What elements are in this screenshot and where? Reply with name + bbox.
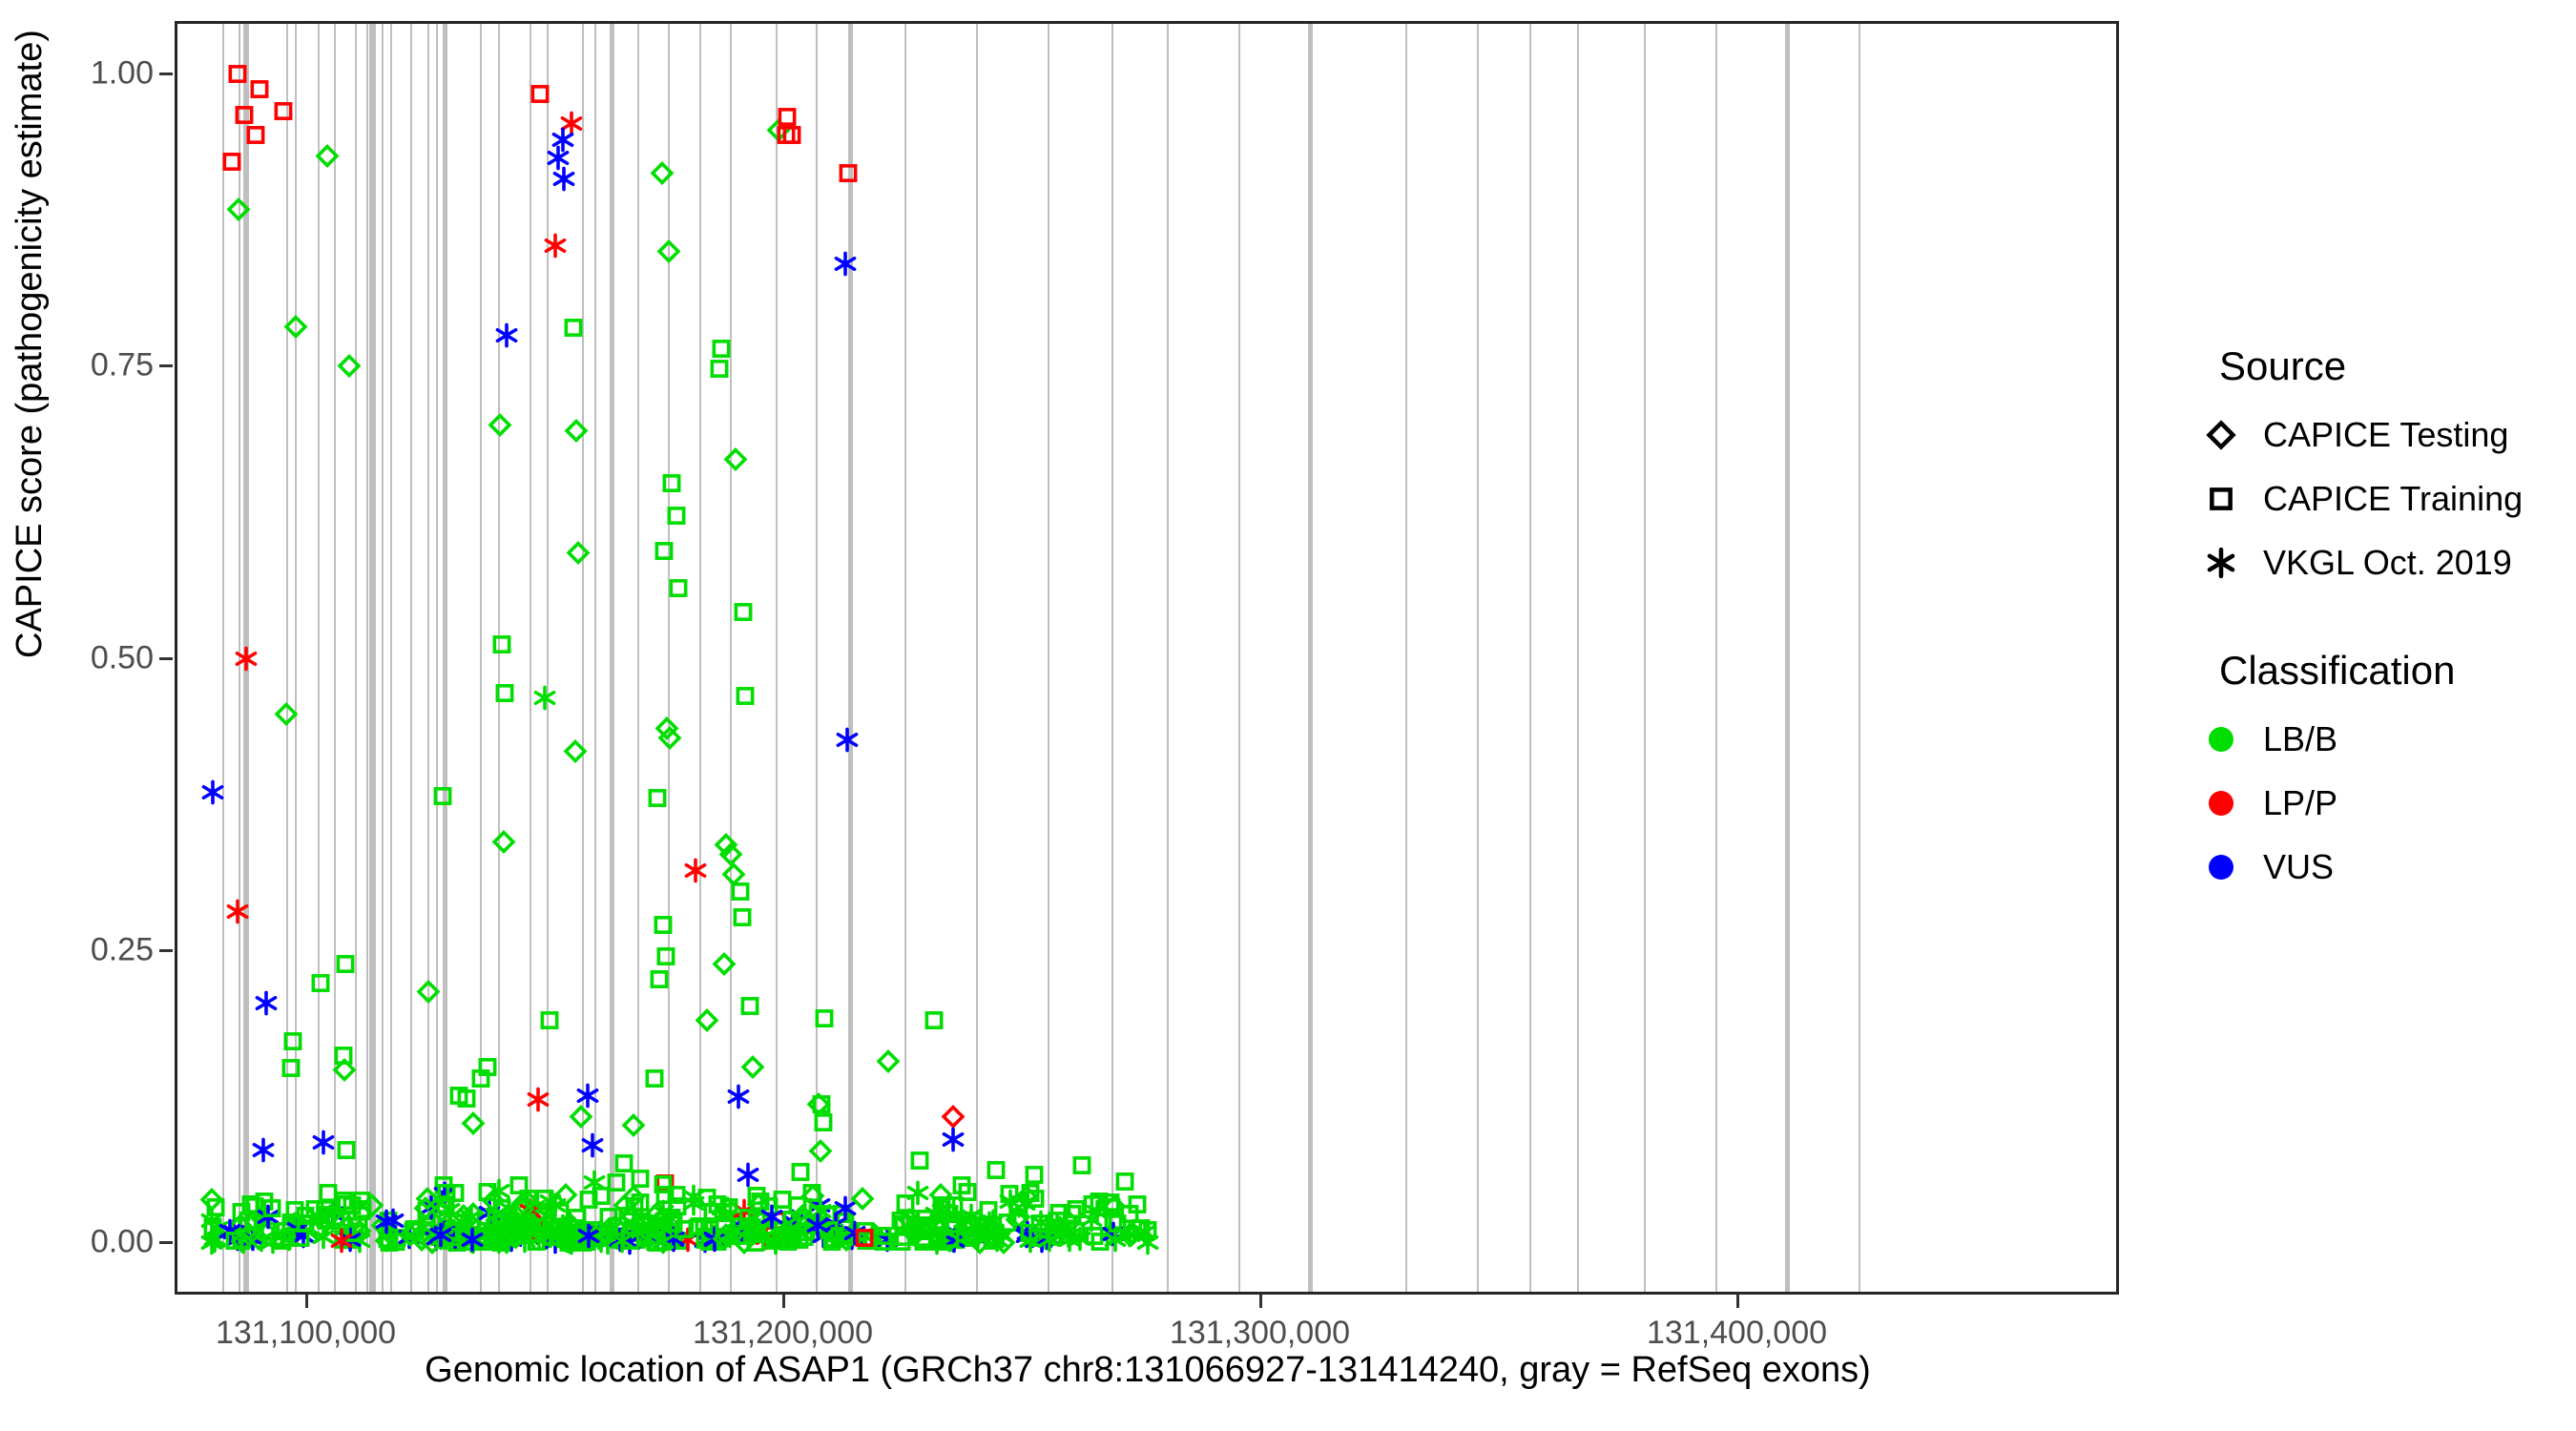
asterisk-marker	[255, 1204, 280, 1230]
diamond-marker	[246, 1226, 272, 1252]
data-point	[1088, 1229, 1113, 1259]
legend-item[interactable]: CAPICE Testing	[2194, 403, 2566, 467]
square-marker	[278, 1055, 303, 1081]
square-marker	[787, 1212, 813, 1237]
square-marker	[870, 1229, 896, 1255]
data-point	[249, 1227, 275, 1257]
asterisk-marker	[1134, 1230, 1160, 1255]
asterisk-marker	[198, 1230, 224, 1255]
asterisk-marker	[807, 1192, 833, 1218]
square-marker	[1041, 1217, 1067, 1243]
asterisk-marker	[660, 1226, 686, 1252]
diamond-marker	[739, 1054, 765, 1080]
data-point	[660, 1226, 686, 1256]
square-marker	[692, 1227, 717, 1253]
asterisk-marker	[1029, 1228, 1055, 1254]
x-tick-mark	[1736, 1295, 1739, 1308]
asterisk-marker	[660, 1227, 686, 1253]
square-marker	[473, 1223, 499, 1249]
square-marker	[1088, 1229, 1113, 1255]
data-point	[603, 1170, 629, 1200]
square-marker	[260, 1195, 285, 1221]
diamond-marker	[617, 1203, 643, 1229]
square-marker	[769, 1216, 795, 1242]
data-point	[740, 1214, 766, 1245]
legend-item[interactable]: VUS	[2194, 835, 2566, 899]
y-tick-label: 0.00	[39, 1223, 154, 1260]
data-point	[1105, 1211, 1131, 1241]
asterisk-marker	[620, 1211, 646, 1236]
data-point	[833, 1209, 859, 1239]
data-point	[631, 1224, 656, 1255]
asterisk-marker	[940, 1127, 966, 1152]
asterisk-marker	[409, 1214, 435, 1240]
data-point	[712, 1212, 737, 1242]
exon-line	[295, 24, 297, 1292]
data-point	[563, 418, 589, 448]
square-marker	[254, 1218, 280, 1244]
square-marker	[1124, 1192, 1150, 1217]
legend-item[interactable]: LP/P	[2194, 771, 2566, 835]
data-point	[447, 1083, 472, 1113]
square-marker	[340, 1227, 365, 1253]
data-point	[704, 1229, 730, 1259]
data-point	[750, 1208, 776, 1238]
square-marker	[487, 1227, 512, 1253]
asterisk-marker	[701, 1224, 727, 1250]
data-point	[530, 1214, 555, 1245]
asterisk-marker	[556, 1229, 582, 1255]
asterisk-marker	[1079, 1207, 1105, 1233]
data-point	[622, 1193, 648, 1224]
data-point	[657, 1216, 683, 1247]
asterisk-marker	[650, 1215, 675, 1241]
square-marker	[961, 1208, 987, 1234]
data-point	[1014, 1223, 1040, 1254]
data-point	[453, 1086, 479, 1116]
data-point	[1117, 1201, 1143, 1232]
square-marker	[743, 1183, 769, 1209]
data-point	[474, 1218, 500, 1249]
data-point	[620, 1218, 646, 1249]
data-point	[915, 1216, 941, 1247]
data-point	[461, 1201, 487, 1232]
square-marker	[628, 1166, 654, 1192]
data-point	[426, 1224, 452, 1255]
data-point	[480, 1188, 506, 1218]
exon-line	[498, 24, 500, 1292]
data-point	[934, 1192, 960, 1223]
asterisk-marker	[832, 1195, 858, 1221]
exon-line	[355, 24, 357, 1292]
data-point	[550, 1220, 575, 1251]
exon-line	[443, 24, 447, 1292]
data-point	[198, 1208, 224, 1238]
square-marker	[733, 683, 758, 709]
data-point	[834, 727, 860, 757]
data-point	[745, 1192, 771, 1222]
data-point	[575, 1223, 601, 1254]
diamond-marker	[613, 1192, 638, 1218]
square-marker	[704, 1192, 730, 1217]
square-marker	[744, 1218, 770, 1244]
data-point	[340, 1227, 365, 1257]
square-marker	[821, 1220, 847, 1246]
asterisk-marker	[498, 1227, 524, 1253]
asterisk-marker	[575, 1083, 601, 1109]
square-marker	[775, 1229, 800, 1255]
diamond-marker	[1057, 1210, 1083, 1235]
data-point	[927, 1217, 953, 1248]
asterisk-marker	[833, 251, 859, 277]
data-point	[1054, 1222, 1080, 1253]
data-point	[775, 1229, 800, 1259]
data-point	[730, 599, 756, 630]
data-point	[790, 1203, 816, 1234]
data-point	[1007, 1193, 1032, 1224]
asterisk-marker	[652, 1209, 677, 1234]
asterisk-marker	[740, 1214, 766, 1240]
data-point	[658, 1225, 684, 1255]
data-point	[657, 1225, 683, 1255]
square-marker	[456, 1229, 482, 1255]
diamond-marker	[427, 1226, 453, 1252]
data-point	[509, 1196, 535, 1227]
exon-line	[480, 24, 482, 1292]
exon-line	[530, 24, 531, 1292]
asterisk-marker	[643, 1212, 669, 1237]
square-marker	[652, 1229, 677, 1255]
data-point	[817, 1217, 842, 1248]
data-point	[1124, 1192, 1150, 1222]
data-point	[1028, 1210, 1054, 1240]
asterisk-marker	[657, 1225, 683, 1251]
data-point	[821, 1220, 847, 1251]
square-marker	[308, 970, 334, 996]
data-point	[238, 1192, 263, 1222]
square-marker	[531, 1203, 557, 1229]
asterisk-marker	[834, 727, 860, 753]
data-point	[1023, 1186, 1049, 1216]
exon-line	[668, 24, 670, 1292]
data-point	[937, 1228, 963, 1258]
square-marker	[756, 1193, 781, 1219]
data-point	[684, 1215, 710, 1246]
diamond-marker	[2205, 419, 2237, 451]
data-point	[850, 1186, 876, 1216]
y-tick-mark	[159, 364, 173, 367]
legend-spacer	[2194, 594, 2566, 648]
data-point	[1084, 1199, 1110, 1230]
square-marker	[286, 1215, 312, 1241]
data-point	[595, 1230, 621, 1260]
diamond-marker	[563, 418, 589, 444]
data-point	[551, 1215, 577, 1246]
diamond-marker	[645, 1200, 671, 1226]
square-marker	[909, 1225, 935, 1251]
data-point	[912, 1214, 938, 1245]
square-marker	[447, 1083, 472, 1109]
square-marker	[976, 1197, 1002, 1223]
data-point	[427, 1226, 453, 1256]
square-marker	[500, 1214, 526, 1240]
data-point	[500, 1214, 526, 1245]
data-point	[650, 1229, 675, 1259]
asterisk-marker	[904, 1180, 930, 1206]
x-tick-mark	[782, 1295, 785, 1308]
square-marker	[916, 1214, 942, 1240]
data-point	[448, 1218, 474, 1249]
square-marker	[658, 470, 684, 496]
y-tick-mark	[159, 657, 173, 660]
data-point	[278, 1055, 303, 1086]
data-point	[335, 1214, 361, 1245]
data-point	[270, 98, 296, 129]
square-marker	[769, 1187, 795, 1213]
data-point	[489, 632, 515, 662]
square-marker	[547, 1215, 572, 1241]
square-marker	[484, 1206, 509, 1232]
data-point	[584, 1223, 610, 1254]
square-marker	[653, 944, 678, 969]
data-point	[617, 1230, 643, 1260]
data-point	[402, 1216, 427, 1247]
diamond-marker	[966, 1230, 992, 1255]
asterisk-marker	[550, 1220, 575, 1246]
data-point	[310, 1130, 336, 1160]
square-marker	[514, 1210, 540, 1235]
data-point	[450, 1225, 476, 1255]
data-point	[702, 1226, 728, 1256]
square-marker	[704, 1229, 730, 1255]
data-point	[651, 1199, 676, 1230]
data-point	[328, 1208, 354, 1238]
square-marker	[630, 1213, 655, 1238]
data-point	[660, 1227, 686, 1257]
data-point	[401, 1218, 426, 1249]
data-point	[1021, 1225, 1047, 1255]
diamond-marker	[553, 1182, 579, 1208]
data-point	[556, 1211, 582, 1241]
data-point	[617, 1203, 643, 1234]
square-marker	[488, 1230, 513, 1255]
square-marker	[551, 1215, 577, 1241]
asterisk-marker	[924, 1201, 949, 1227]
y-tick-mark	[159, 73, 173, 75]
data-point	[409, 1221, 435, 1252]
data-point	[1017, 1220, 1043, 1251]
diamond-marker	[1005, 1207, 1030, 1233]
data-point	[700, 1228, 726, 1258]
data-point	[514, 1210, 540, 1240]
legend-item[interactable]: VKGL Oct. 2019	[2194, 530, 2566, 594]
diamond-marker	[584, 1223, 610, 1249]
asterisk-marker	[530, 1219, 555, 1245]
asterisk-marker	[249, 1210, 275, 1235]
square-marker	[912, 1206, 938, 1232]
exon-line	[816, 24, 818, 1292]
square-marker	[659, 1205, 685, 1231]
exon-line	[244, 24, 249, 1292]
data-point	[529, 1218, 554, 1249]
data-point	[269, 1228, 295, 1258]
square-marker	[730, 1221, 756, 1247]
diamond-marker	[940, 1104, 966, 1130]
data-point	[340, 1192, 365, 1223]
square-marker	[611, 1151, 636, 1176]
data-point	[805, 1091, 831, 1122]
exon-line	[594, 24, 596, 1292]
diamond-marker	[461, 1110, 487, 1136]
data-point	[643, 1212, 669, 1242]
square-marker	[906, 1148, 932, 1173]
square-marker	[853, 1228, 879, 1254]
square-marker	[482, 1220, 508, 1246]
data-point	[645, 1200, 671, 1231]
x-tick-mark	[305, 1295, 308, 1308]
square-marker	[1086, 1189, 1111, 1214]
diamond-marker	[654, 715, 679, 741]
data-point	[338, 1227, 364, 1257]
diamond-marker	[792, 1213, 818, 1239]
diamond-marker	[752, 1217, 778, 1243]
square-marker	[426, 1224, 452, 1250]
data-point	[819, 1229, 844, 1259]
exon-line	[1859, 24, 1860, 1292]
data-point	[522, 1194, 548, 1225]
square-marker	[957, 1213, 983, 1238]
asterisk-marker	[450, 1225, 476, 1251]
square-marker	[565, 1205, 591, 1231]
data-point	[941, 1192, 966, 1223]
legend-item[interactable]: LB/B	[2194, 707, 2566, 771]
diamond-marker	[602, 1213, 628, 1239]
asterisk-marker	[558, 111, 584, 136]
data-point	[449, 1219, 475, 1250]
data-point	[943, 1215, 968, 1246]
asterisk-marker	[675, 1227, 700, 1253]
data-point	[509, 1191, 535, 1221]
data-point	[437, 1220, 463, 1251]
data-point	[450, 1203, 476, 1234]
square-marker	[323, 1204, 349, 1230]
asterisk-marker	[1116, 1222, 1142, 1248]
asterisk-marker	[990, 1223, 1016, 1249]
legend-item[interactable]: CAPICE Training	[2194, 467, 2566, 530]
square-marker	[645, 1230, 671, 1255]
square-marker	[491, 1210, 517, 1235]
data-point	[645, 1230, 671, 1260]
asterisk-marker	[1028, 1210, 1054, 1235]
exon-line	[730, 24, 732, 1292]
data-point	[456, 1229, 482, 1259]
square-marker	[889, 1229, 915, 1255]
asterisk-marker	[941, 1228, 966, 1254]
legend: Source CAPICE TestingCAPICE TrainingVKGL…	[2194, 343, 2566, 899]
data-point	[756, 1220, 781, 1251]
diamond-marker	[1007, 1193, 1032, 1219]
square-marker	[547, 1199, 572, 1225]
asterisk-marker	[942, 1224, 967, 1250]
square-marker	[1023, 1186, 1049, 1212]
square-marker	[1134, 1217, 1160, 1243]
asterisk-marker	[651, 1213, 676, 1238]
asterisk-marker	[635, 1225, 661, 1251]
data-point	[833, 251, 859, 281]
square-marker	[921, 1007, 946, 1033]
diamond-marker	[756, 1220, 781, 1246]
data-point	[484, 1227, 509, 1257]
exon-line	[390, 24, 392, 1292]
data-point	[499, 1217, 525, 1248]
data-point	[752, 1217, 778, 1248]
square-marker	[584, 1223, 610, 1249]
square-marker	[650, 912, 675, 938]
data-point	[552, 1216, 578, 1247]
data-point	[512, 1210, 538, 1240]
data-point	[700, 1199, 726, 1230]
square-marker	[515, 1186, 541, 1212]
asterisk-marker	[823, 1212, 849, 1237]
data-point	[994, 1210, 1020, 1240]
diamond-marker	[1117, 1222, 1143, 1248]
square-marker	[741, 1217, 767, 1243]
asterisk-marker	[554, 1228, 580, 1254]
exon-line	[1529, 24, 1531, 1292]
data-point	[728, 1218, 754, 1249]
asterisk-marker	[682, 858, 708, 883]
data-point	[769, 1187, 795, 1217]
data-point	[510, 1214, 536, 1245]
data-point	[693, 1224, 718, 1255]
square-marker	[652, 1171, 677, 1196]
diamond-marker	[450, 1203, 476, 1229]
data-point	[905, 1219, 931, 1250]
asterisk-marker	[381, 1208, 406, 1234]
data-point	[1029, 1228, 1055, 1258]
asterisk-marker	[374, 1209, 400, 1234]
data-point	[502, 1222, 528, 1253]
square-marker	[491, 680, 517, 706]
asterisk-marker	[285, 1216, 311, 1242]
data-point	[936, 1201, 962, 1232]
data-point	[766, 117, 792, 148]
data-point	[1128, 1215, 1153, 1246]
asterisk-marker	[337, 1215, 363, 1241]
exon-line	[286, 24, 288, 1292]
data-point	[461, 1110, 487, 1141]
data-point	[1021, 1162, 1047, 1192]
diamond-marker	[800, 1183, 826, 1209]
square-marker	[453, 1086, 479, 1111]
data-point	[735, 1205, 760, 1235]
asterisk-marker	[575, 1223, 601, 1249]
data-point	[966, 1230, 992, 1260]
asterisk-marker	[1012, 1191, 1038, 1216]
square-marker	[728, 1213, 754, 1239]
square-marker	[996, 1181, 1022, 1207]
data-point	[1017, 1180, 1043, 1211]
square-marker	[401, 1218, 426, 1244]
square-marker	[700, 1229, 726, 1255]
square-marker	[712, 1212, 737, 1237]
asterisk-marker	[965, 1224, 990, 1250]
data-point	[720, 861, 746, 892]
data-point	[277, 1225, 302, 1255]
square-marker	[437, 1220, 463, 1246]
data-point	[729, 904, 755, 935]
data-point	[472, 1210, 498, 1240]
